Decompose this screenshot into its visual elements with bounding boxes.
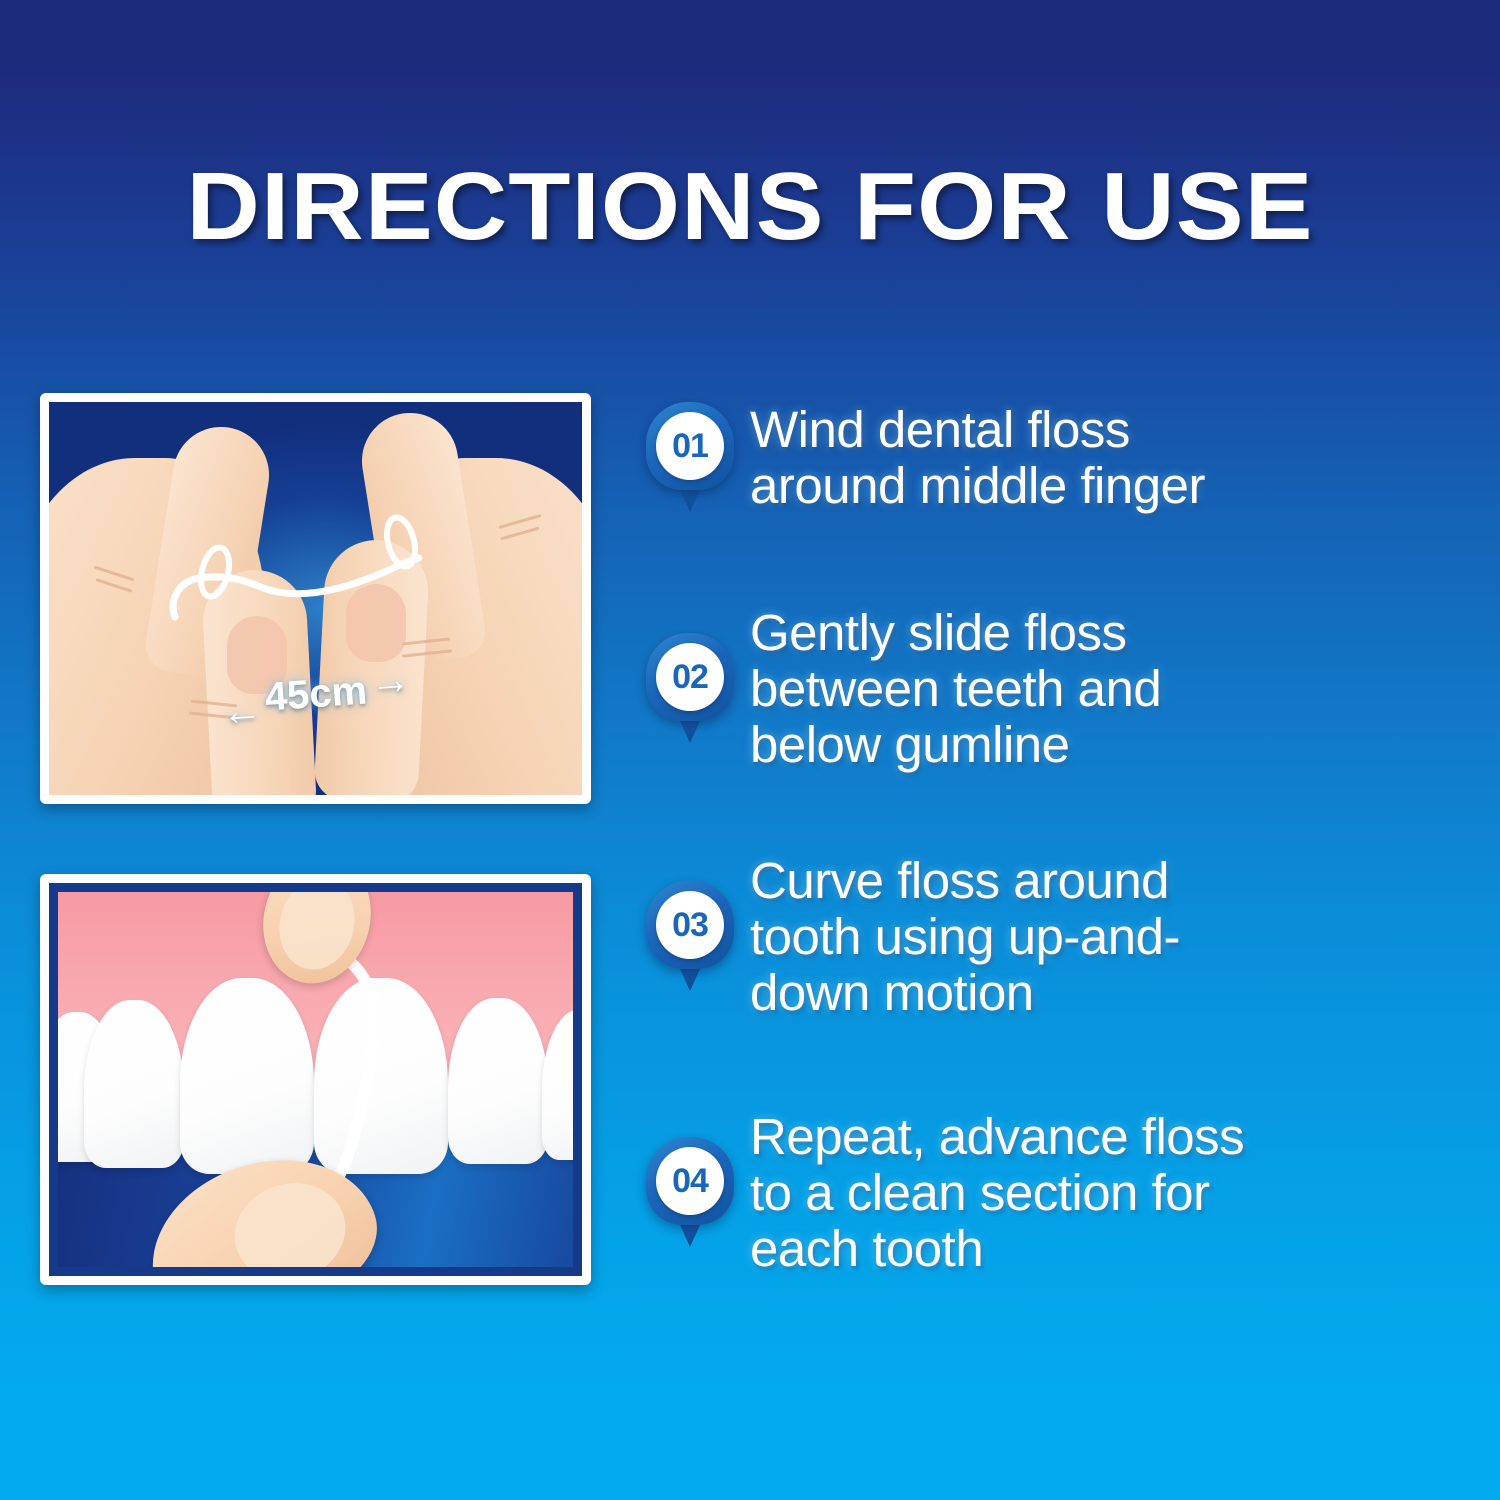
hands-illustration: ← 45cm → bbox=[49, 402, 582, 795]
illustration-panel-teeth bbox=[40, 874, 591, 1285]
pin-disc-icon: 02 bbox=[656, 643, 724, 711]
step-pin-04: 04 bbox=[640, 1135, 736, 1251]
pin-disc-icon: 01 bbox=[656, 412, 724, 480]
step-number: 02 bbox=[672, 660, 708, 694]
illustration-panel-hands: ← 45cm → bbox=[40, 393, 591, 804]
step-item-03: 03 Curve floss around tooth using up-and… bbox=[640, 822, 1480, 1052]
step-line: Curve floss around bbox=[750, 853, 1480, 909]
step-line: Repeat, advance floss bbox=[750, 1109, 1480, 1165]
step-line: Gently slide floss bbox=[750, 605, 1480, 661]
step-line: between teeth and bbox=[750, 661, 1480, 717]
step-item-02: 02 Gently slide floss between teeth and … bbox=[640, 574, 1480, 804]
step-line: each tooth bbox=[750, 1221, 1480, 1277]
step-item-04: 04 Repeat, advance floss to a clean sect… bbox=[640, 1078, 1480, 1308]
step-line: below gumline bbox=[750, 717, 1480, 773]
pin-disc-icon: 03 bbox=[656, 891, 724, 959]
infographic-root: DIRECTIONS FOR USE bbox=[0, 0, 1500, 1500]
step-line: tooth using up-and- bbox=[750, 909, 1480, 965]
measurement-value: 45cm bbox=[263, 668, 368, 720]
step-text-04: Repeat, advance floss to a clean section… bbox=[750, 1109, 1480, 1277]
step-pin-01: 01 bbox=[640, 400, 736, 516]
arrow-right-icon: → bbox=[368, 659, 411, 702]
step-line: to a clean section for bbox=[750, 1165, 1480, 1221]
step-text-02: Gently slide floss between teeth and bel… bbox=[750, 605, 1480, 773]
step-line: around middle finger bbox=[750, 458, 1480, 514]
step-line: down motion bbox=[750, 965, 1480, 1021]
teeth-inner-frame bbox=[49, 883, 582, 1276]
floss-strand-icon bbox=[49, 402, 582, 795]
step-text-01: Wind dental floss around middle finger bbox=[750, 402, 1480, 514]
arrow-left-icon: ← bbox=[220, 689, 263, 732]
teeth-illustration bbox=[49, 883, 582, 1276]
pin-disc-icon: 04 bbox=[656, 1147, 724, 1215]
step-number: 03 bbox=[672, 908, 708, 942]
step-number: 01 bbox=[672, 429, 708, 463]
step-line: Wind dental floss bbox=[750, 402, 1480, 458]
step-pin-03: 03 bbox=[640, 879, 736, 995]
steps-list: 01 Wind dental floss around middle finge… bbox=[640, 378, 1480, 1308]
step-item-01: 01 Wind dental floss around middle finge… bbox=[640, 378, 1480, 538]
step-number: 04 bbox=[672, 1164, 708, 1198]
step-text-03: Curve floss around tooth using up-and- d… bbox=[750, 853, 1480, 1021]
page-title: DIRECTIONS FOR USE bbox=[0, 152, 1500, 262]
step-pin-02: 02 bbox=[640, 631, 736, 747]
